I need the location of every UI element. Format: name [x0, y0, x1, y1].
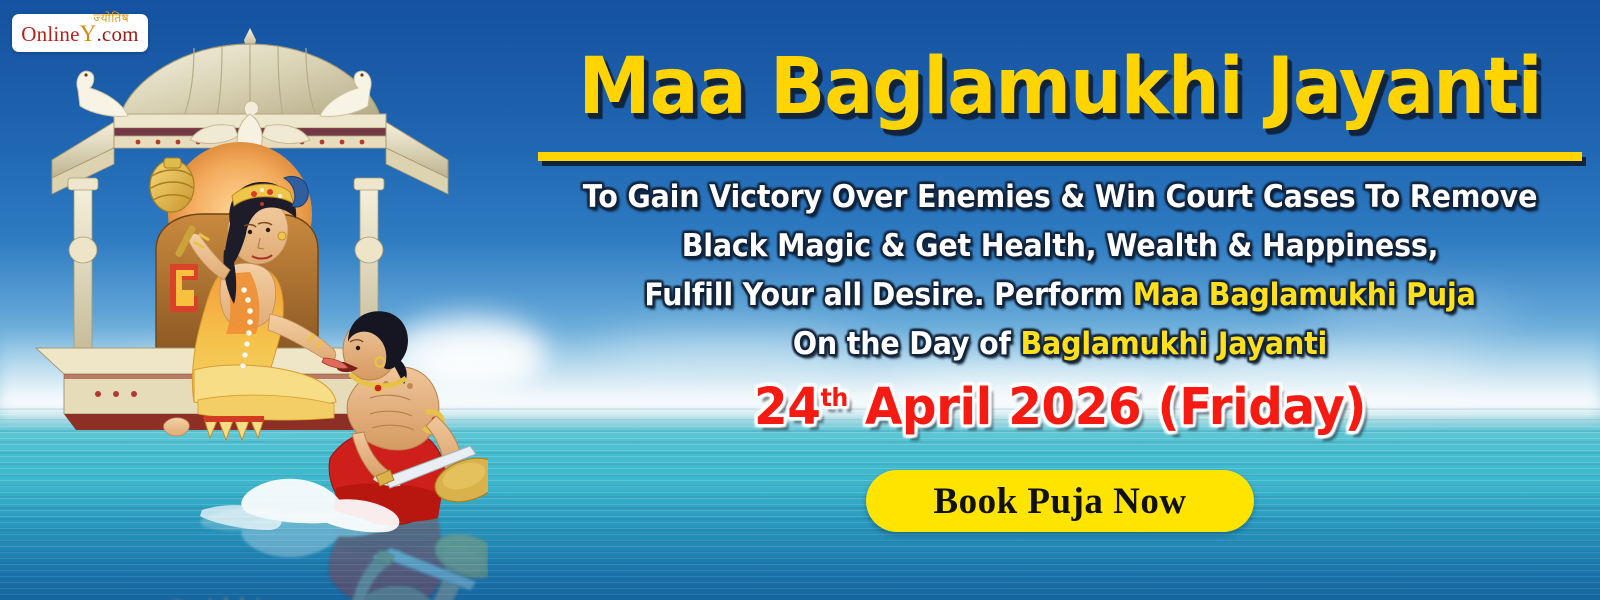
- subtitle-line-4-highlight: Baglamukhi Jayanti: [1020, 326, 1327, 362]
- book-puja-now-button[interactable]: Book Puja Now: [866, 470, 1254, 532]
- subtitle-line-4-white: On the Day of: [793, 326, 1021, 362]
- title-underline: [538, 152, 1582, 161]
- page-title: Maa Baglamukhi Jayanti: [558, 48, 1562, 126]
- subtitle-line-1: To Gain Victory Over Enemies & Win Court…: [563, 182, 1557, 213]
- subtitle-line-3-highlight: Maa Baglamukhi Puja: [1133, 277, 1476, 313]
- event-date-rest: April 2026 (Friday): [865, 378, 1366, 437]
- subtitle-line-3-white: Fulfill Your all Desire. Perform: [644, 277, 1132, 313]
- subtitle-line-4: On the Day of Baglamukhi Jayanti: [563, 329, 1557, 360]
- logo-devanagari-text: ज्योतिष: [93, 9, 129, 26]
- event-date: 24thApril 2026 (Friday): [547, 382, 1573, 433]
- subtitle-line-1-white: To Gain Victory Over Enemies & Win Court…: [583, 179, 1538, 215]
- logo-online-text: Online: [21, 22, 79, 46]
- subtitle-line-2-white: Black Magic & Get Health, Wealth & Happi…: [682, 228, 1439, 264]
- event-date-suffix: th: [820, 383, 847, 412]
- deity-illustration: [18, 18, 488, 538]
- promo-banner: ज्योतिष OnlineY.com Maa Baglamukhi Jayan…: [0, 0, 1600, 600]
- event-date-day: 24: [754, 378, 820, 437]
- subtitle-line-3: Fulfill Your all Desire. Perform Maa Bag…: [563, 280, 1557, 311]
- banner-content: Maa Baglamukhi Jayanti To Gain Victory O…: [520, 0, 1600, 600]
- subtitle-line-2: Black Magic & Get Health, Wealth & Happi…: [563, 231, 1557, 262]
- site-logo[interactable]: ज्योतिष OnlineY.com: [12, 14, 148, 52]
